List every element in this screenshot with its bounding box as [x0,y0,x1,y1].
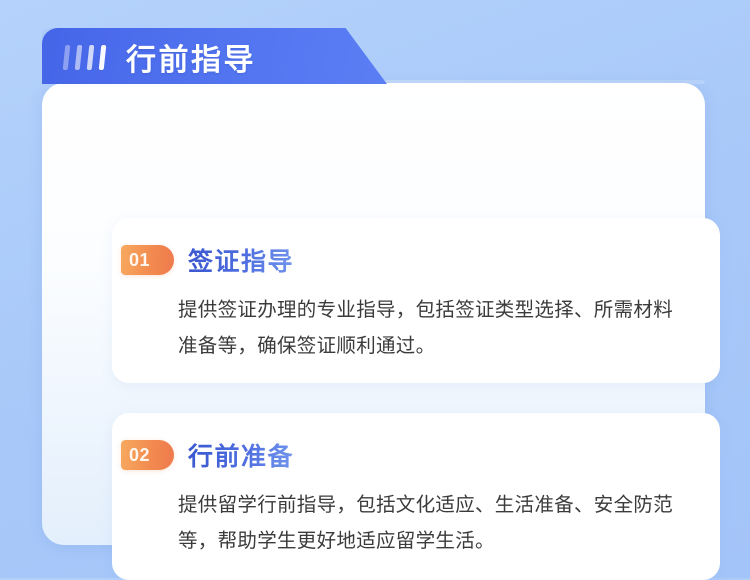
card-header: 01 签证指导 [112,218,720,278]
content-panel: 01 签证指导 提供签证办理的专业指导，包括签证类型选择、所需材料准备等，确保签… [42,83,705,545]
stripes-icon [64,45,105,70]
item-number-badge: 02 [121,440,174,470]
list-item[interactable]: 02 行前准备 提供留学行前指导，包括文化适应、生活准备、安全防范等，帮助学生更… [112,413,720,580]
banner-content: 行前指导 [42,28,387,84]
card-header: 02 行前准备 [112,413,720,473]
item-number-badge: 01 [121,245,174,275]
item-title: 签证指导 [188,242,294,278]
page-title: 行前指导 [126,35,256,79]
item-title: 行前准备 [188,437,294,473]
item-description: 提供签证办理的专业指导，包括签证类型选择、所需材料准备等，确保签证顺利通过。 [178,292,690,364]
list-item[interactable]: 01 签证指导 提供签证办理的专业指导，包括签证类型选择、所需材料准备等，确保签… [112,218,720,383]
item-description: 提供留学行前指导，包括文化适应、生活准备、安全防范等，帮助学生更好地适应留学生活… [178,487,690,559]
section-banner: 行前指导 [42,28,387,84]
